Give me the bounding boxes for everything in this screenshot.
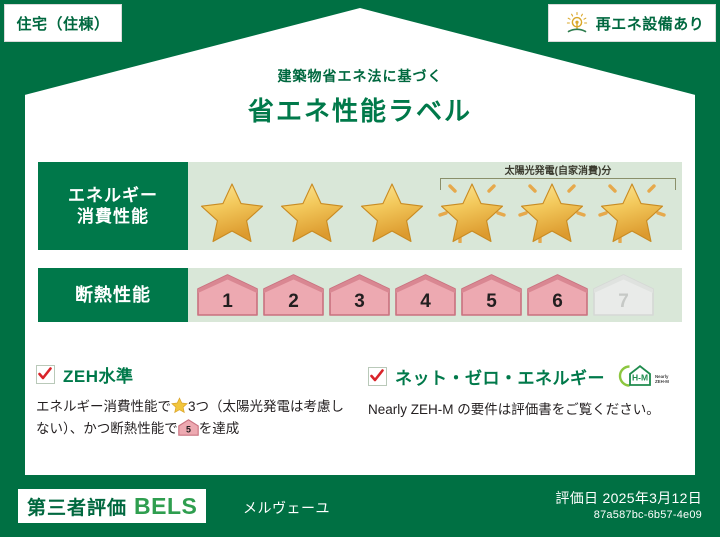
solar-bracket-label: 太陽光発電(自家消費)分: [440, 162, 676, 177]
insulation-level-scale: 1 2 3 4 5: [188, 273, 655, 317]
insulation-level-3: 3: [328, 273, 391, 317]
bels-prefix-label: 第三者評価: [27, 493, 127, 520]
criteria-zeh-description: エネルギー消費性能で 3つ（太陽光発電は考慮しない）、かつ断熱性能で 5 を達成: [36, 396, 356, 440]
insulation-level-number: 3: [328, 291, 391, 313]
evaluation-date: 評価日 2025年3月12日: [555, 488, 702, 508]
title-block: 建築物省エネ法に基づく 省エネ性能ラベル: [0, 66, 720, 128]
house-level-5-icon: 5: [178, 419, 199, 436]
criteria-nzeb-header: ネット・ゼロ・エネルギー H-M Nearly ZEH-M: [368, 362, 686, 390]
svg-text:ZEH-M: ZEH-M: [655, 379, 669, 384]
insulation-level-5: 5: [460, 273, 523, 317]
insulation-level-number: 1: [196, 291, 259, 313]
insulation-level-number: 6: [526, 291, 589, 313]
insulation-level-number: 4: [394, 291, 457, 313]
energy-performance-label: エネルギー 消費性能: [38, 162, 188, 250]
checkbox-checked-icon: [36, 365, 55, 384]
svg-text:5: 5: [186, 424, 191, 434]
insulation-label-text: 断熱性能: [75, 284, 151, 307]
builder-name: メルヴェーユ: [243, 498, 330, 518]
energy-star-rating: [188, 177, 670, 243]
badge-renewable-label: 再エネ設備あり: [596, 13, 705, 34]
insulation-level-number: 7: [592, 291, 655, 313]
energy-stars-panel: 太陽光発電(自家消費)分: [188, 162, 682, 250]
energy-star-1: [194, 177, 270, 243]
energy-performance-row: エネルギー 消費性能 太陽光発電(自家消費)分: [38, 162, 682, 250]
criteria-nzeb-title: ネット・ゼロ・エネルギー: [395, 364, 605, 389]
bels-energy-label: 住宅（住棟） 再エネ設備あり 建築: [0, 0, 720, 537]
energy-star-6: [594, 177, 670, 243]
insulation-level-number: 2: [262, 291, 325, 313]
energy-star-3: [354, 177, 430, 243]
energy-star-5: [514, 177, 590, 243]
insulation-performance-label: 断熱性能: [38, 268, 188, 322]
insulation-performance-row: 断熱性能 1 2 3 4: [38, 268, 682, 322]
badge-renewable-equipment: 再エネ設備あり: [548, 4, 716, 42]
criteria-zeh-title: ZEH水準: [63, 362, 134, 387]
criteria-zeh-header: ZEH水準: [36, 362, 356, 387]
criteria-net-zero-energy: ネット・ゼロ・エネルギー H-M Nearly ZEH-M Nearly ZEH…: [368, 362, 686, 421]
gold-star-icon: [171, 397, 188, 414]
insulation-level-number: 5: [460, 291, 523, 313]
bels-certification-box: 第三者評価 BELS: [18, 489, 206, 523]
criteria-nzeb-description: Nearly ZEH-M の要件は評価書をご覧ください。: [368, 399, 686, 421]
zeh-text-part3: を達成: [199, 421, 240, 436]
solar-sun-icon: [564, 10, 590, 36]
criteria-zeh-standard: ZEH水準 エネルギー消費性能で 3つ（太陽光発電は考慮しない）、かつ断熱性能で…: [36, 362, 356, 440]
footer-bar: 第三者評価 BELS メルヴェーユ 評価日 2025年3月12日 87a587b…: [0, 479, 720, 537]
insulation-scale-panel: 1 2 3 4 5: [188, 268, 682, 322]
insulation-level-7: 7: [592, 273, 655, 317]
label-subtitle: 建築物省エネ法に基づく: [0, 66, 720, 86]
insulation-level-6: 6: [526, 273, 589, 317]
energy-star-2: [274, 177, 350, 243]
insulation-level-1: 1: [196, 273, 259, 317]
bels-brand-label: BELS: [134, 493, 197, 520]
insulation-level-4: 4: [394, 273, 457, 317]
badge-dwelling-label: 住宅（住棟）: [16, 13, 109, 34]
checkbox-checked-icon: [368, 367, 387, 386]
svg-text:H-M: H-M: [632, 373, 648, 383]
insulation-level-2: 2: [262, 273, 325, 317]
energy-label-line2: 消費性能: [77, 206, 149, 227]
badge-dwelling-type: 住宅（住棟）: [4, 4, 122, 42]
page-title: 省エネ性能ラベル: [0, 91, 720, 128]
evaluation-id: 87a587bc-6b57-4e09: [594, 509, 702, 521]
zeh-m-logo-icon: H-M Nearly ZEH-M: [617, 362, 675, 390]
energy-star-4: [434, 177, 510, 243]
zeh-text-part1: エネルギー消費性能で: [36, 399, 171, 414]
energy-label-line1: エネルギー: [68, 185, 158, 206]
